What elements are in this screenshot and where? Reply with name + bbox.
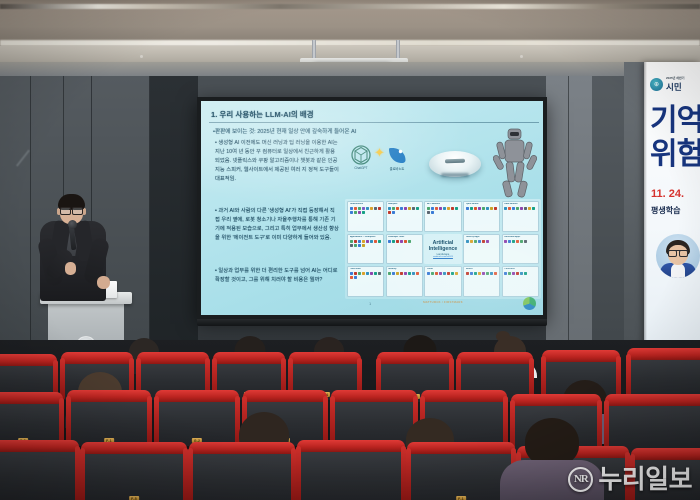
ai-cell-title: Industry Apps [466,236,499,238]
slide-corner-logo [523,297,536,310]
ai-cell: Search [463,266,500,297]
ai-cell: Applications — Enterprise [347,234,384,265]
banner-org-small: 2025년 하반기 [666,76,685,80]
slide-title: 1. 우리 사용하는 LLM-AI의 배경 [211,109,314,120]
microphone-head [68,220,77,229]
watermark-text: 누리일보 [598,466,692,492]
speaker-glasses [60,207,83,213]
wall-dark-column [150,76,198,352]
ai-cell: Cloud [424,266,461,297]
banner-org-logo: ⊕ [650,78,663,91]
wall-panel-3 [592,76,626,352]
banner-portrait [656,234,700,278]
ai-landscape-center: Artificial Intelligence Landscape matttu… [424,234,461,265]
seat[interactable] [192,446,292,500]
seat[interactable]: G-2 [158,394,236,446]
ai-center-title-line2: Intelligence [429,246,458,252]
event-banner: ⊕ 2025년 하반기 시민 기억 위험 11. 24. 평생학습 [644,62,700,358]
ai-cell-title: Analytics [388,203,421,205]
projection-screen: 1. 우리 사용하는 LLM-AI의 배경 •판판에 보이는 것: 2025년 … [197,97,547,319]
slide-paragraph-2: • 과거 AI와 사람의 다른 '생성형 AI'가 직접 등장해서 직접 우리 … [215,207,339,243]
openai-logo-caption: ChatGPT [346,166,376,170]
watermark: NR 누리일보 [568,466,692,492]
ai-cell-logos [504,207,536,229]
ai-landscape-footer: MATTURCK / FIRSTMARK [345,300,541,304]
seat-number-plate: F-1 [456,496,466,500]
ai-cell: Cross-Infra [347,266,384,297]
slide-surface: 1. 우리 사용하는 LLM-AI의 배경 •판판에 보이는 것: 2025년 … [201,101,543,315]
ai-cell-title: Developer Tools [388,236,421,238]
ceiling [0,0,700,48]
seat-number-plate: F-5 [129,496,139,500]
slide-title-rule [209,122,539,123]
ai-cell-logos [427,207,459,229]
ai-cell: ML Platforms [424,201,461,232]
ai-cell-title: Infrastructure [350,203,383,205]
ai-cell: Open Source [463,201,500,232]
ai-cell-logos [388,207,420,229]
openai-logo [351,145,371,165]
ai-cell-title: Data Sources [504,203,537,205]
ai-cell-title: Search [466,268,499,270]
ai-cell-logos [466,207,498,229]
watermark-badge: NR [568,467,593,492]
ai-cell-title: Horizontal Apps [504,236,537,238]
ai-cell-title: Security [388,268,421,270]
ai-cell: Infrastructure [347,201,384,232]
ai-cell-logos [350,272,382,294]
ceiling-light-strip-upper [0,4,700,9]
ai-cell: Analytics [386,201,423,232]
ai-cell: Industry Apps [463,234,500,265]
ai-cell-logos [350,240,382,262]
ai-cell-title: Cross-Infra [350,268,383,270]
wall-light-column [546,76,592,352]
ai-cell-logos [388,272,420,294]
ai-cell-logos [504,272,536,294]
ai-cell-title: Applications — Enterprise [350,236,383,238]
banner-subtitle: 평생학습 [651,205,680,216]
humanoid-robot-icon [493,127,537,199]
ai-cell-title: Open Source [466,203,499,205]
speaker-hand-right [97,276,110,289]
ai-cell-logos [466,272,498,294]
screen-bottom-bar [197,319,547,326]
ai-cell-logos [504,240,536,262]
ai-center-link: mattturck.com/ai2023 [433,256,453,258]
wall-gap-right [624,62,644,352]
ai-cell-title: Consumer [504,268,537,270]
ai-cell: Horizontal Apps [502,234,539,265]
ai-cell: Consumer [502,266,539,297]
wall-seam-1 [30,76,31,352]
robot-vacuum-shadow [441,173,469,177]
seat[interactable]: F-5 [0,396,60,446]
robot-vacuum-sensor [445,159,465,164]
ai-cell: Security [386,266,423,297]
slide-paragraph-1: • 생성형 AI 이전에도 머신 러닝과 딥 러닝을 이용한 AI는 지난 10… [215,139,339,184]
ai-cell: Developer Tools [386,234,423,265]
slide-paragraph-3: • 일상과 업무를 위한 더 편리한 도구를 넘어 AI는 어디로 확장할 것이… [215,267,339,285]
ai-cell: Data Sources [502,201,539,232]
banner-headline-line1: 기억 [650,106,700,136]
seat[interactable]: F-1 [410,446,512,500]
slide-lead-line: •판판에 보이는 것: 2025년 현재 일상 안에 깊숙하게 들어온 AI [213,127,356,135]
seat[interactable]: F-1 [70,394,148,446]
spark-icon: ✦ [374,146,385,159]
wall-seam-3 [568,76,569,352]
lecture-hall-photo: 1. 우리 사용하는 LLM-AI의 배경 •판판에 보이는 것: 2025년 … [0,0,700,500]
seat[interactable] [0,444,76,500]
banner-org-name: 시민 [666,81,682,93]
seat[interactable] [300,444,402,500]
seat[interactable]: F-5 [84,446,184,500]
banner-date: 11. 24. [651,188,684,200]
speaker-hand-left [65,262,76,275]
ai-cell-title: Cloud [427,268,460,270]
banner-headline-line2: 위험 [650,140,700,170]
wave-logo-caption: 클로바노트 [382,166,412,171]
ai-cell-logos [350,207,382,229]
ai-cell-title: ML Platforms [427,203,460,205]
ai-landscape-infographic: Infrastructure Analytics [345,199,541,299]
wave-logo [387,145,407,165]
ai-cell-logos [388,240,420,262]
wall-upper-band [0,62,700,76]
ai-cell-logos [466,240,498,262]
ai-cell-logos [427,272,459,294]
banner-shadow-edge [644,62,647,358]
